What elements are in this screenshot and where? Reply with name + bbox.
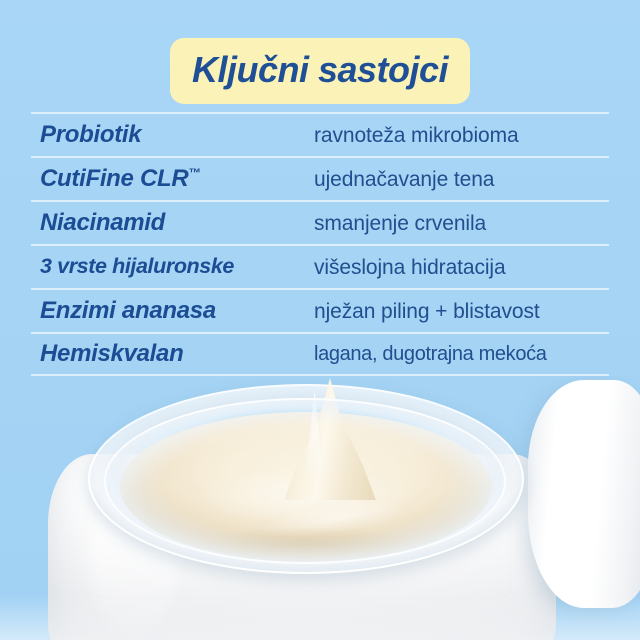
ingredient-benefit: višeslojna hidratacija <box>314 257 609 278</box>
table-row: Hemiskvalan lagana, dugotrajna mekoća <box>31 332 609 376</box>
ingredient-name: Hemiskvalan <box>31 342 314 366</box>
ingredient-benefit: nježan piling + blistavost <box>314 301 609 322</box>
promo-graphic: Ključni sastojci Probiotik ravnoteža mik… <box>0 0 640 640</box>
table-row: 3 vrste hijaluronske višeslojna hidratac… <box>31 244 609 288</box>
ingredient-name: 3 vrste hijaluronske <box>31 256 314 278</box>
product-photo <box>0 376 640 640</box>
ingredient-benefit: ujednačavanje tena <box>314 169 609 190</box>
ingredient-name: Niacinamid <box>31 211 314 235</box>
table-row: Probiotik ravnoteža mikrobioma <box>31 112 609 156</box>
trademark-mark: ™ <box>188 166 200 180</box>
table-row: CutiFine CLR™ ujednačavanje tena <box>31 156 609 200</box>
table-row: Niacinamid smanjenje crvenila <box>31 200 609 244</box>
title-badge: Ključni sastojci <box>170 38 470 104</box>
ingredient-name: Probiotik <box>31 123 314 147</box>
ingredient-benefit: lagana, dugotrajna mekoća <box>314 344 609 364</box>
ingredients-table: Probiotik ravnoteža mikrobioma CutiFine … <box>31 112 609 376</box>
jar-rim-inner <box>104 398 506 564</box>
ingredient-name: CutiFine CLR™ <box>31 167 314 191</box>
ingredient-name: Enzimi ananasa <box>31 299 314 323</box>
table-row: Enzimi ananasa nježan piling + blistavos… <box>31 288 609 332</box>
ingredient-benefit: smanjenje crvenila <box>314 213 609 234</box>
ingredient-benefit: ravnoteža mikrobioma <box>314 125 609 146</box>
jar-lid <box>528 380 640 608</box>
page-title: Ključni sastojci <box>192 52 448 88</box>
